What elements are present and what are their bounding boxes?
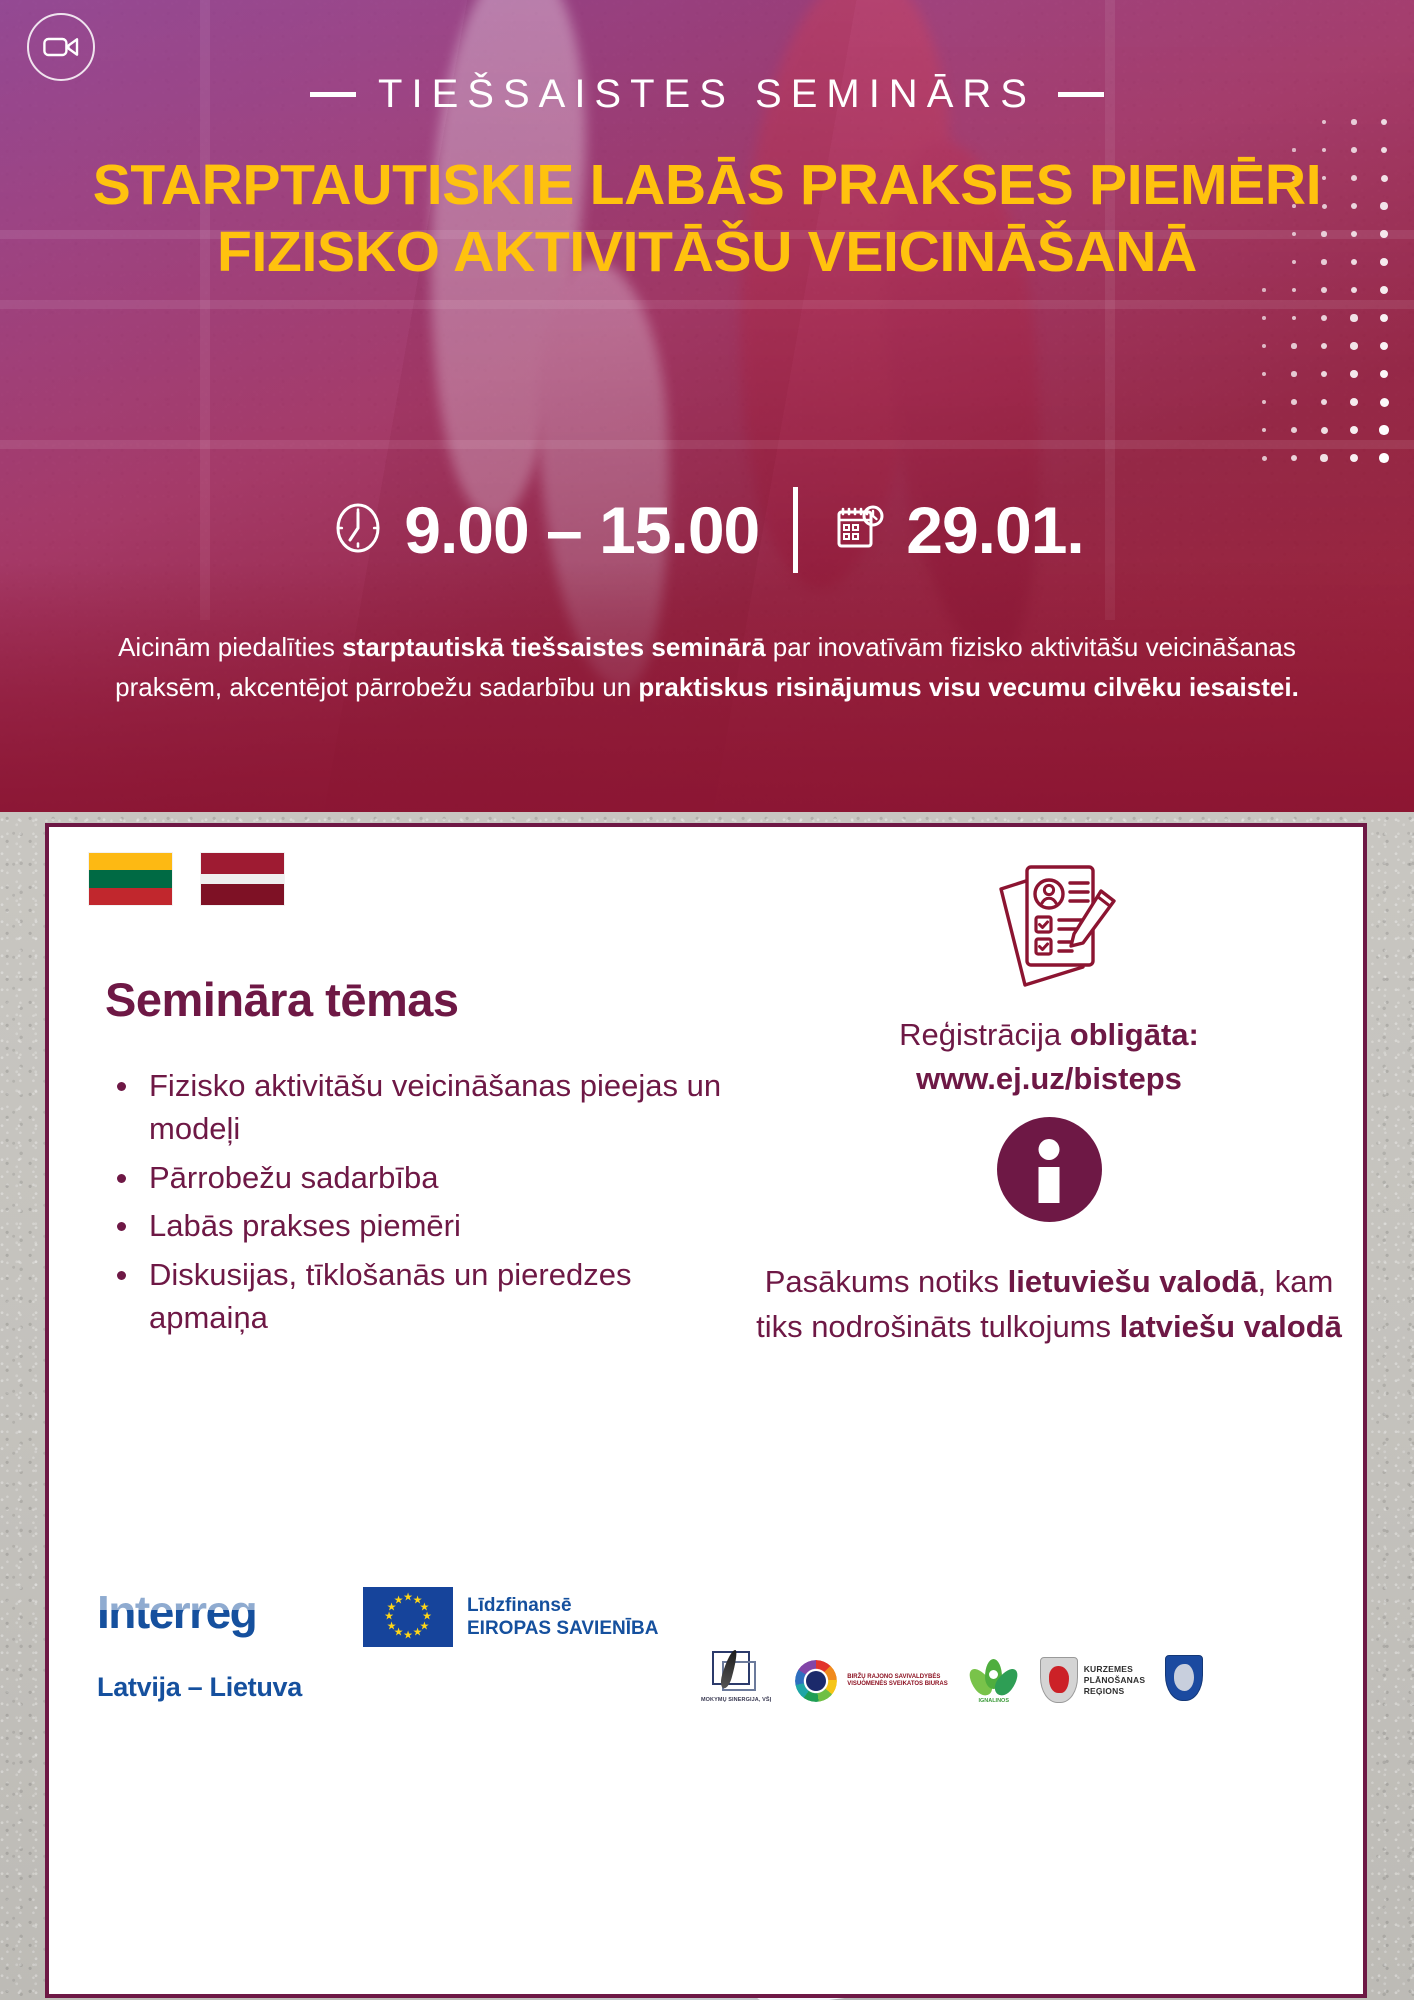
event-date: 29.01.: [832, 497, 1084, 563]
registration-section: Reģistrācija obligāta: www.ej.uz/bisteps: [749, 847, 1349, 1101]
eu-line-1: Līdzfinansē: [467, 1594, 658, 1617]
event-date-value: 29.01.: [906, 497, 1084, 563]
eu-cofunding-logo: ★★★★★★★★★★★★ Līdzfinansē EIROPAS SAVIENĪ…: [363, 1587, 658, 1647]
hero-desc-part-1: Aicinām piedalīties: [118, 632, 342, 662]
kurzeme-coat-of-arms-icon: [1040, 1657, 1078, 1703]
eu-line-2: EIROPAS SAVIENĪBA: [467, 1617, 658, 1640]
eyebrow-label: TIEŠSAISTES SEMINĀRS: [378, 72, 1036, 117]
eyebrow-bar-right: [1058, 92, 1104, 97]
list-item: Labās prakses piemēri: [105, 1205, 745, 1248]
video-camera-icon: [27, 13, 95, 81]
event-time: 9.00 – 15.00: [330, 497, 759, 563]
birzu-line-2: VISUOMENĖS SVEIKATOS BIURAS: [847, 1681, 947, 1689]
kurzemes-line-3: REĢIONS: [1084, 1686, 1146, 1697]
people-circle-icon: [791, 1659, 843, 1703]
country-flags: [89, 853, 284, 905]
partner-logos: MOKYMŲ SINERGIJA, VŠĮ BIRŽŲ RAJONO SAVIV…: [701, 1647, 1203, 1703]
kurzemes-caption: KURZEMES PLĀNOŠANAS REĢIONS: [1084, 1664, 1146, 1696]
content-card: Semināra tēmas Fizisko aktivitāšu veicin…: [45, 823, 1367, 1998]
list-item: Fizisko aktivitāšu veicināšanas pieejas …: [105, 1065, 745, 1151]
event-meta-row: 9.00 – 15.00: [0, 487, 1414, 573]
registration-form-icon: [749, 847, 1349, 995]
mokymu-sinergija-caption: MOKYMŲ SINERGIJA, VŠĮ: [701, 1697, 771, 1703]
info-icon: [997, 1117, 1102, 1222]
hero-description: Aicinām piedalīties starptautiskā tiešsa…: [78, 628, 1336, 707]
mokymu-sinergija-logo: MOKYMŲ SINERGIJA, VŠĮ: [701, 1647, 771, 1703]
interreg-wordmark: Interreg: [97, 1585, 256, 1639]
page-title: STARPTAUTISKIE LABĀS PRAKSES PIEMĒRI FIZ…: [90, 152, 1324, 287]
registration-url[interactable]: www.ej.uz/bisteps: [749, 1057, 1349, 1101]
birzu-rajono-caption: BIRŽŲ RAJONO SAVIVALDYBĖS VISUOMENĖS SVE…: [847, 1674, 947, 1689]
registration-lead: Reģistrācija: [899, 1017, 1070, 1052]
lang-bold-1: lietuviešu valodā: [1008, 1264, 1258, 1299]
kurzemes-planosanas-regions-logo: KURZEMES PLĀNOŠANAS REĢIONS: [1040, 1657, 1146, 1703]
list-item: Diskusijas, tīklošanās un pieredzes apma…: [105, 1254, 745, 1340]
kurzemes-line-2: PLĀNOŠANAS: [1084, 1675, 1146, 1686]
eyebrow-row: TIEŠSAISTES SEMINĀRS: [0, 72, 1414, 117]
interreg-logo: Interreg: [97, 1585, 357, 1639]
language-info-text: Pasākums notiks lietuviešu valodā, kam t…: [749, 1260, 1349, 1350]
latgale-coat-of-arms-icon: [1165, 1655, 1203, 1701]
poster-root: TIEŠSAISTES SEMINĀRS STARPTAUTISKIE LABĀ…: [0, 0, 1414, 2000]
event-time-value: 9.00 – 15.00: [404, 497, 759, 563]
hero-banner: TIEŠSAISTES SEMINĀRS STARPTAUTISKIE LABĀ…: [0, 0, 1414, 812]
birzu-rajono-logo: BIRŽŲ RAJONO SAVIVALDYBĖS VISUOMENĖS SVE…: [791, 1659, 947, 1703]
hero-desc-bold-1: starptautiskā tiešsaistes seminārā: [342, 632, 765, 662]
lang-text-1: Pasākums notiks: [765, 1264, 1008, 1299]
eu-cofunding-text: Līdzfinansē EIROPAS SAVIENĪBA: [467, 1594, 658, 1640]
eyebrow-bar-left: [310, 92, 356, 97]
quill-icon: [708, 1647, 764, 1695]
ignalinos-logo: IGNALINOS: [968, 1657, 1020, 1703]
ignalinos-caption: IGNALINOS: [968, 1698, 1020, 1704]
eu-flag-icon: ★★★★★★★★★★★★: [363, 1587, 453, 1647]
language-info-section: Pasākums notiks lietuviešu valodā, kam t…: [749, 1117, 1349, 1350]
calendar-icon: [832, 500, 888, 561]
registration-lead-bold: obligāta:: [1070, 1017, 1199, 1052]
leaf-icon: IGNALINOS: [968, 1657, 1020, 1703]
hero-desc-bold-2: praktiskus risinājumus visu vecumu cilvē…: [638, 672, 1298, 702]
lithuania-flag: [89, 853, 172, 905]
kurzemes-line-1: KURZEMES: [1084, 1664, 1146, 1675]
interreg-programme-countries: Latvija – Lietuva: [97, 1672, 302, 1703]
seminar-topics-list: Fizisko aktivitāšu veicināšanas pieejas …: [105, 1065, 745, 1340]
seminar-topics-heading: Semināra tēmas: [105, 972, 745, 1027]
latgales-planosanas-regions-logo: [1165, 1655, 1203, 1703]
latvia-flag: [201, 853, 284, 905]
lang-bold-2: latviešu valodā: [1120, 1309, 1342, 1344]
meta-divider: [793, 487, 798, 573]
clock-icon: [330, 500, 386, 561]
seminar-topics-section: Semināra tēmas Fizisko aktivitāšu veicin…: [105, 972, 745, 1346]
list-item: Pārrobežu sadarbība: [105, 1157, 745, 1200]
registration-label: Reģistrācija obligāta:: [749, 1013, 1349, 1057]
